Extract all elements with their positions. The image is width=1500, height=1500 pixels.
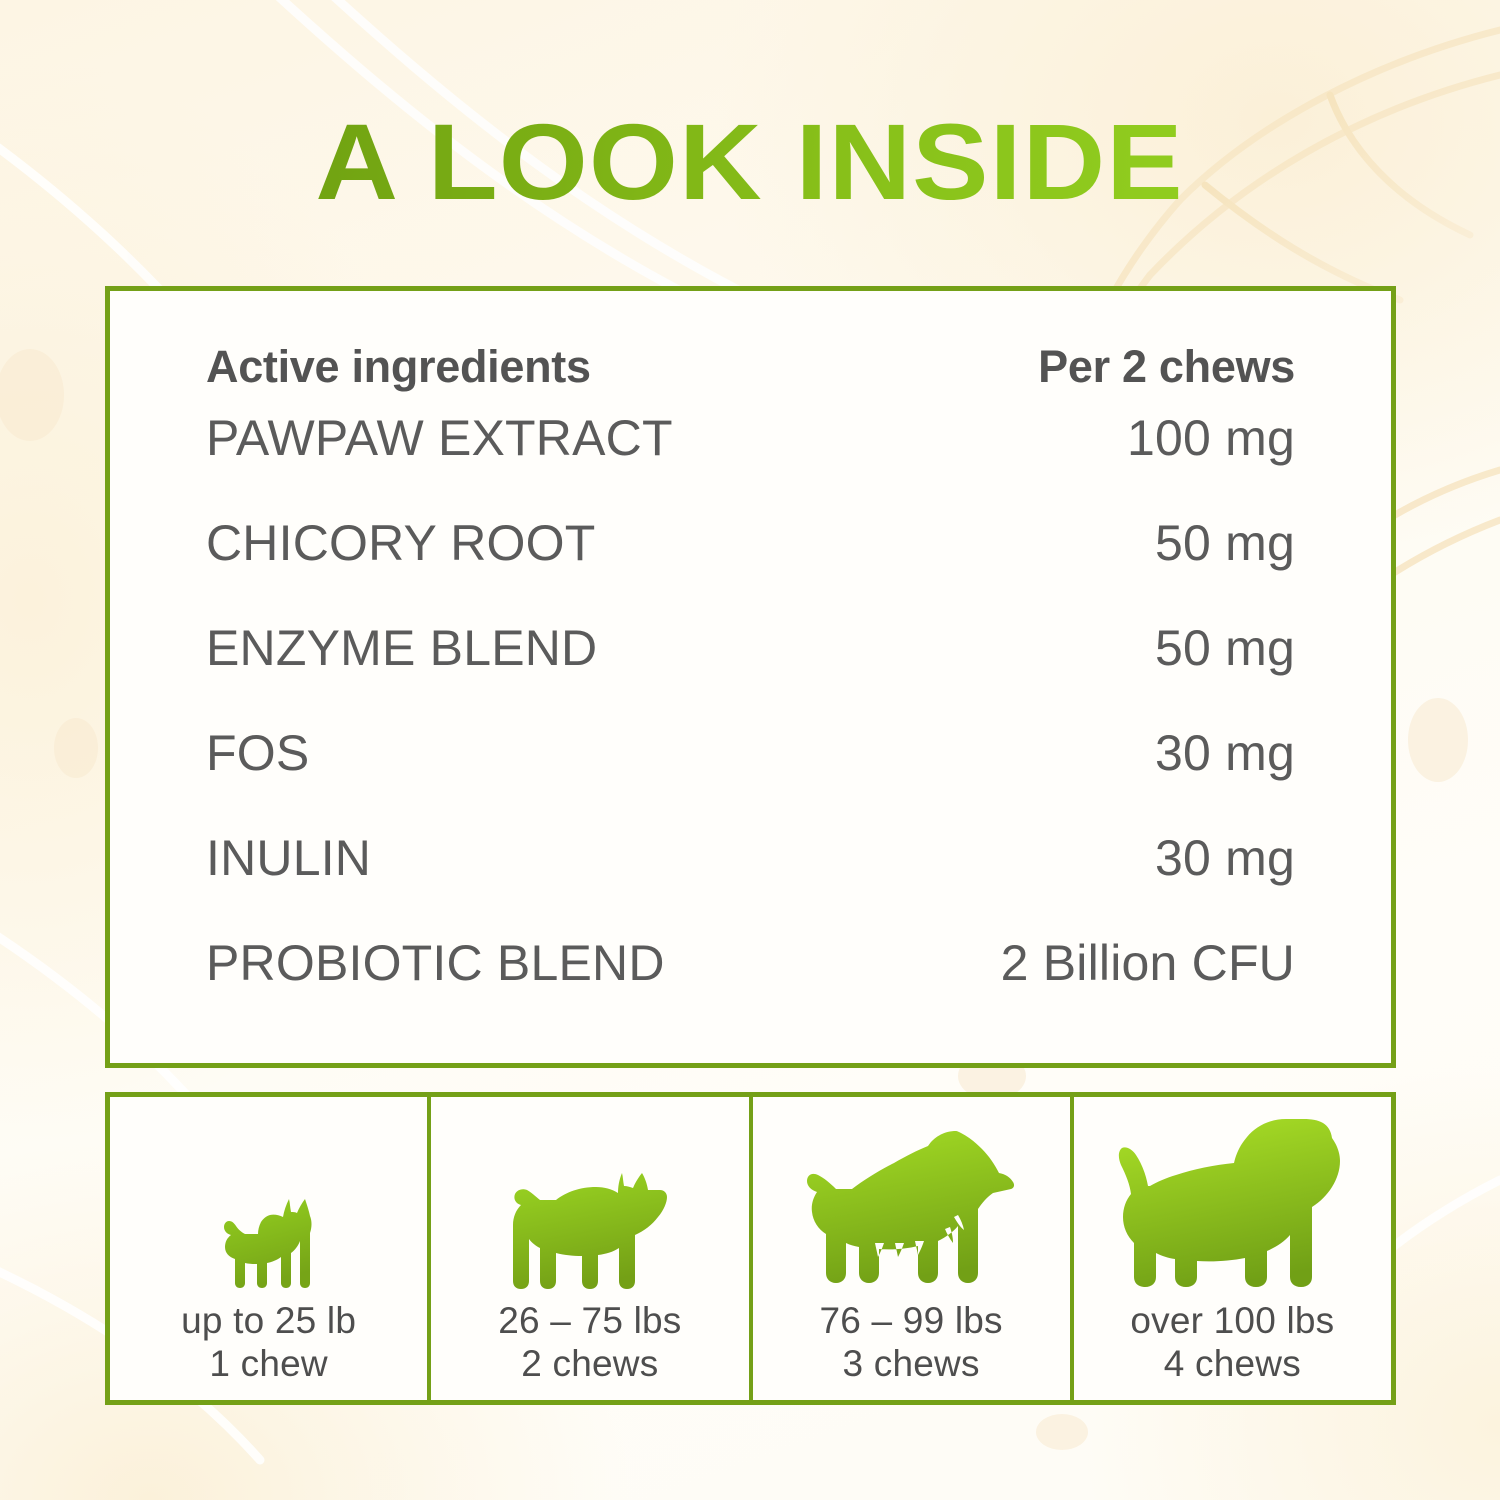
table-row: PROBIOTIC BLEND 2 Billion CFU [206,934,1295,1039]
table-row: CHICORY ROOT 50 mg [206,514,1295,619]
dosage-label-medium: 26 – 75 lbs 2 chews [498,1299,681,1386]
table-header-row: Active ingredients Per 2 chews [206,313,1295,409]
dosage-label-small: up to 25 lb 1 chew [181,1299,356,1386]
dosage-label-xlarge: over 100 lbs 4 chews [1130,1299,1334,1386]
dosage-cell-large: 76 – 99 lbs 3 chews [749,1097,1070,1400]
title-container: A LOOK INSIDE [0,108,1500,216]
dosage-cell-xlarge: over 100 lbs 4 chews [1070,1097,1391,1400]
ingredient-name: PROBIOTIC BLEND [206,934,665,992]
table-row: FOS 30 mg [206,724,1295,829]
dosage-amount: 3 chews [820,1342,1003,1386]
table-inner: Active ingredients Per 2 chews PAWPAW EX… [110,291,1391,1039]
ingredient-name: CHICORY ROOT [206,514,596,572]
page-title: A LOOK INSIDE [316,108,1184,216]
dosage-amount: 2 chews [498,1342,681,1386]
dosage-amount: 4 chews [1130,1342,1334,1386]
dosage-weight: up to 25 lb [181,1299,356,1343]
column-header-ingredient: Active ingredients [206,313,591,393]
ingredient-value: 100 mg [1127,409,1295,467]
table-row: INULIN 30 mg [206,829,1295,934]
dosage-cell-small: up to 25 lb 1 chew [110,1097,427,1400]
dosage-weight: 76 – 99 lbs [820,1299,1003,1343]
ingredient-name: ENZYME BLEND [206,619,597,677]
ingredient-name: INULIN [206,829,371,887]
dosage-amount: 1 chew [181,1342,356,1386]
dosage-weight: over 100 lbs [1130,1299,1334,1343]
small-dog-icon [110,1097,427,1299]
table-row: ENZYME BLEND 50 mg [206,619,1295,724]
ingredient-table: Active ingredients Per 2 chews PAWPAW EX… [105,286,1396,1068]
large-dog-icon [753,1097,1070,1299]
ingredient-value: 30 mg [1155,829,1295,887]
ingredient-name: FOS [206,724,309,782]
table-row: PAWPAW EXTRACT 100 mg [206,409,1295,514]
dosage-label-large: 76 – 99 lbs 3 chews [820,1299,1003,1386]
dosage-cell-medium: 26 – 75 lbs 2 chews [427,1097,748,1400]
ingredient-value: 30 mg [1155,724,1295,782]
ingredient-name: PAWPAW EXTRACT [206,409,673,467]
ingredient-value: 2 Billion CFU [1001,934,1295,992]
medium-dog-icon [431,1097,748,1299]
dosage-weight: 26 – 75 lbs [498,1299,681,1343]
ingredient-value: 50 mg [1155,514,1295,572]
ingredient-value: 50 mg [1155,619,1295,677]
dosage-panel: up to 25 lb 1 chew 26 – 75 lbs 2 chews [105,1092,1396,1405]
column-header-amount: Per 2 chews [1038,313,1295,393]
xlarge-dog-icon [1074,1097,1391,1299]
